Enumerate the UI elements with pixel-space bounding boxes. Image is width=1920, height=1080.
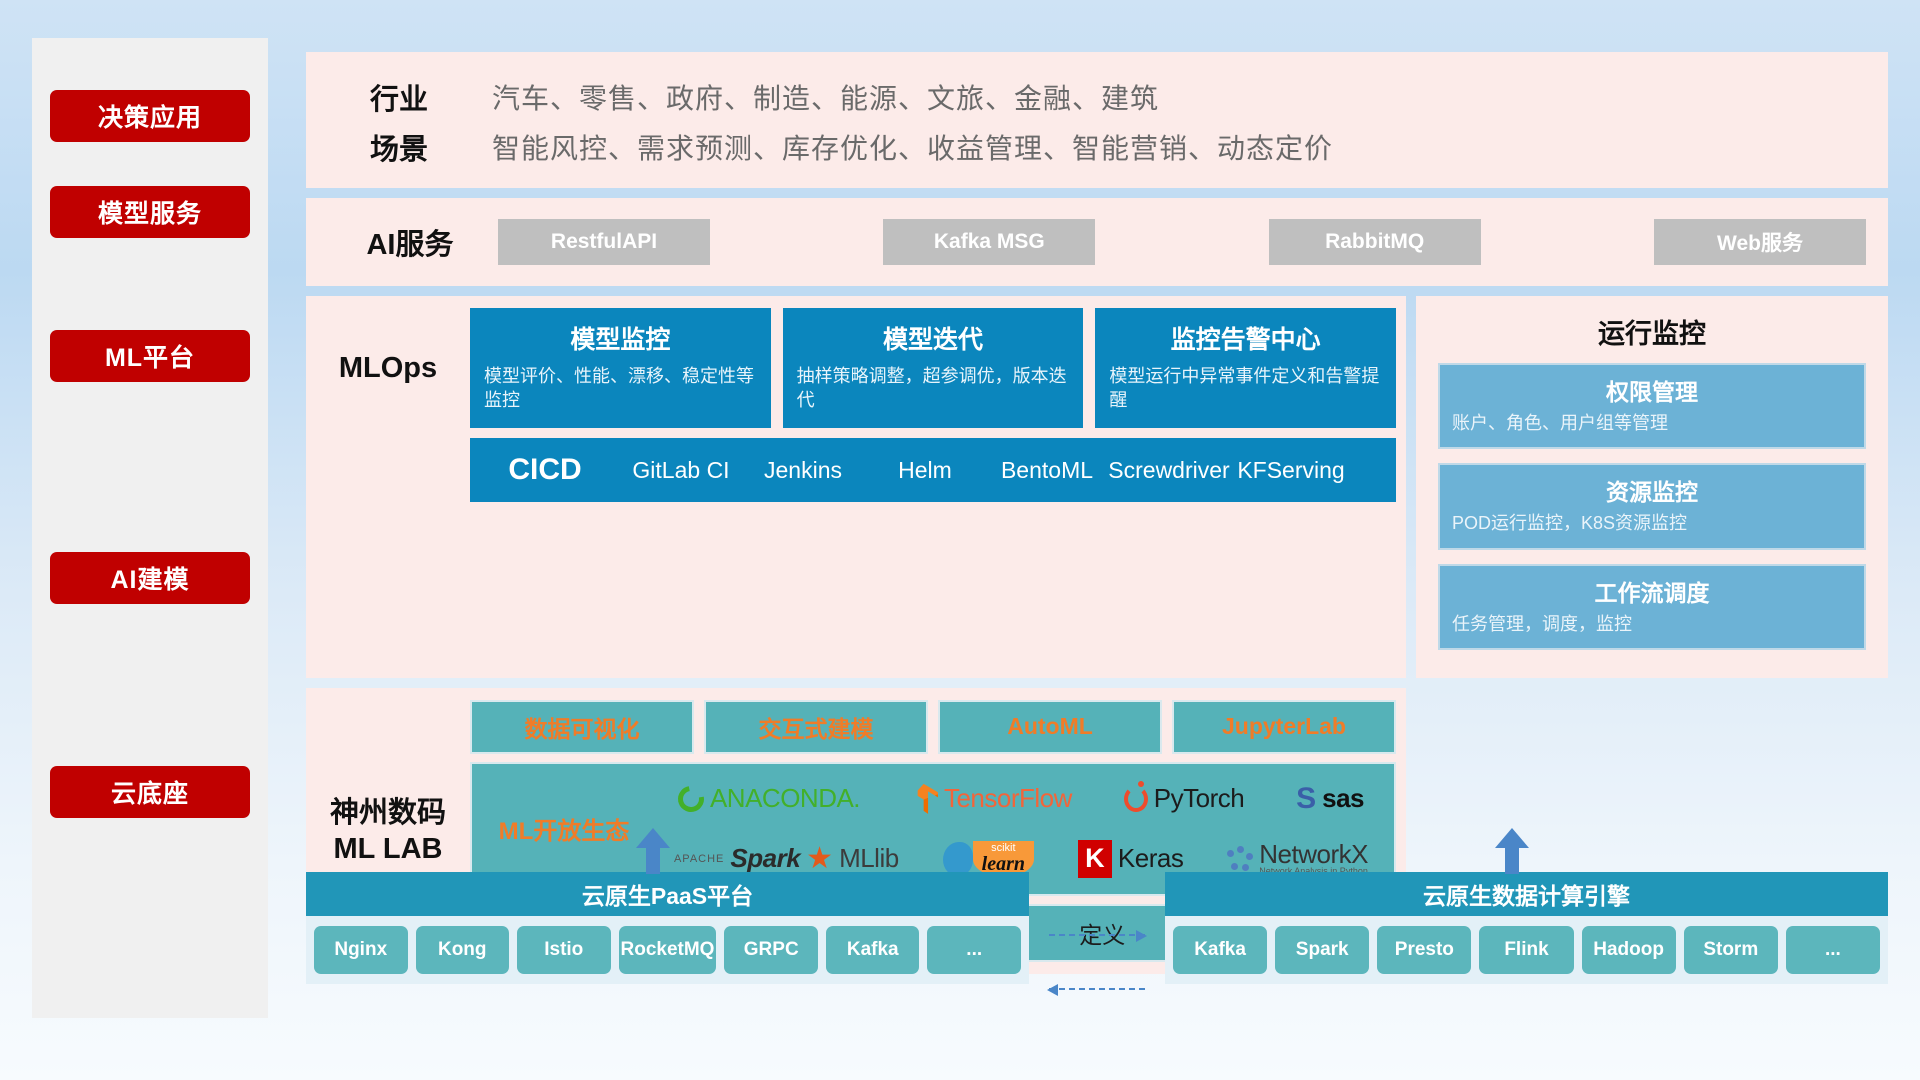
cloud-paas-column: 云原生PaaS平台 Nginx Kong Istio RocketMQ GRPC… bbox=[306, 872, 1029, 984]
cloud-base-section: 云原生PaaS平台 Nginx Kong Istio RocketMQ GRPC… bbox=[306, 872, 1888, 984]
band-mlops-wrapper: MLOps 模型监控 模型评价、性能、漂移、稳定性等监控 模型迭代 抽样策略调整… bbox=[306, 296, 1888, 678]
lab-tab-interactive-modeling[interactable]: 交互式建模 bbox=[704, 700, 928, 754]
cloud-chip-rocketmq[interactable]: RocketMQ bbox=[619, 926, 717, 974]
compute-chip-presto[interactable]: Presto bbox=[1377, 926, 1471, 974]
rail-badge-cloud-base[interactable]: 云底座 bbox=[50, 766, 250, 818]
cicd-item-jenkins[interactable]: Jenkins bbox=[742, 458, 864, 482]
cloud-chip-grpc[interactable]: GRPC bbox=[724, 926, 818, 974]
stack-layer-rail: 决策应用 模型服务 ML平台 AI建模 云底座 bbox=[32, 38, 268, 1018]
mlops-card-desc: 抽样策略调整，超参调优，版本迭代 bbox=[797, 364, 1070, 413]
lab-tab-jupyterlab[interactable]: JupyterLab bbox=[1172, 700, 1396, 754]
cloud-paas-title: 云原生PaaS平台 bbox=[306, 872, 1029, 916]
panel-runtime-monitoring: 运行监控 权限管理 账户、角色、用户组等管理 资源监控 POD运行监控，K8S资… bbox=[1416, 296, 1888, 678]
networkx-wordmark: NetworkX bbox=[1259, 841, 1368, 867]
cicd-item-gitlab-ci[interactable]: GitLab CI bbox=[620, 458, 742, 482]
industry-key: 行业 bbox=[306, 76, 492, 118]
monitor-card-title: 权限管理 bbox=[1452, 373, 1852, 407]
lab-tab-list: 数据可视化 交互式建模 AutoML JupyterLab bbox=[470, 700, 1396, 754]
compute-chip-kafka[interactable]: Kafka bbox=[1173, 926, 1267, 974]
spark-apache-label: APACHE bbox=[674, 853, 724, 865]
eco-label: ML开放生态 bbox=[476, 811, 652, 846]
sas-swirl-icon: S bbox=[1296, 782, 1316, 816]
scenario-key: 场景 bbox=[306, 126, 492, 168]
sas-wordmark: sas bbox=[1322, 783, 1364, 814]
rail-badge-decision[interactable]: 决策应用 bbox=[50, 90, 250, 142]
spark-wordmark: Spark bbox=[730, 843, 800, 874]
spark-star-icon: ★ bbox=[806, 844, 833, 874]
ml-lab-label-line1: 神州数码 bbox=[330, 795, 446, 831]
scikit-blob-icon bbox=[943, 842, 973, 876]
monitor-card-resources[interactable]: 资源监控 POD运行监控，K8S资源监控 bbox=[1438, 463, 1866, 549]
cloud-chip-istio[interactable]: Istio bbox=[517, 926, 611, 974]
mlops-card-desc: 模型评价、性能、漂移、稳定性等监控 bbox=[484, 364, 757, 413]
ai-chip-web-service[interactable]: Web服务 bbox=[1654, 219, 1866, 265]
mlops-card-alert-center[interactable]: 监控告警中心 模型运行中异常事件定义和告警提醒 bbox=[1095, 308, 1396, 428]
compute-chip-hadoop[interactable]: Hadoop bbox=[1582, 926, 1676, 974]
anaconda-wordmark: ANACONDA. bbox=[710, 783, 860, 814]
compute-chip-storm[interactable]: Storm bbox=[1684, 926, 1778, 974]
cloud-chip-kafka[interactable]: Kafka bbox=[826, 926, 920, 974]
industry-value: 汽车、零售、政府、制造、能源、文旅、金融、建筑 bbox=[492, 77, 1159, 117]
panel-title: 运行监控 bbox=[1438, 312, 1866, 351]
mlops-card-title: 监控告警中心 bbox=[1109, 320, 1382, 356]
eco-logo-grid: ANACONDA. TensorFlow PyTorch bbox=[652, 770, 1390, 888]
monitor-card-permissions[interactable]: 权限管理 账户、角色、用户组等管理 bbox=[1438, 363, 1866, 449]
arrow-right-dashed-icon bbox=[1049, 934, 1145, 936]
compute-chip-spark[interactable]: Spark bbox=[1275, 926, 1369, 974]
eco-logo-row-1: ANACONDA. TensorFlow PyTorch bbox=[652, 770, 1390, 828]
pytorch-logo: PyTorch bbox=[1124, 783, 1244, 814]
spark-mllib-logo: APACHE Spark ★ MLlib bbox=[674, 843, 899, 874]
cloud-chip-nginx[interactable]: Nginx bbox=[314, 926, 408, 974]
scenario-line: 场景 智能风控、需求预测、库存优化、收益管理、智能营销、动态定价 bbox=[306, 126, 1888, 168]
cloud-compute-chip-list: Kafka Spark Presto Flink Hadoop Storm ..… bbox=[1165, 916, 1888, 984]
monitor-card-desc: 账户、角色、用户组等管理 bbox=[1452, 411, 1852, 435]
monitor-card-title: 资源监控 bbox=[1452, 473, 1852, 507]
cicd-title: CICD bbox=[470, 453, 620, 487]
scenario-value: 智能风控、需求预测、库存优化、收益管理、智能营销、动态定价 bbox=[492, 127, 1333, 167]
sas-logo: S sas bbox=[1296, 782, 1364, 816]
ml-lab-label-line2: ML LAB bbox=[330, 831, 446, 867]
compute-chip-flink[interactable]: Flink bbox=[1479, 926, 1573, 974]
tensorflow-logo: TensorFlow bbox=[912, 783, 1072, 814]
cloud-compute-column: 云原生数据计算引擎 Kafka Spark Presto Flink Hadoo… bbox=[1165, 872, 1888, 984]
mlops-card-model-iteration[interactable]: 模型迭代 抽样策略调整，超参调优，版本迭代 bbox=[783, 308, 1084, 428]
cicd-item-screwdriver[interactable]: Screwdriver bbox=[1108, 458, 1230, 482]
cicd-item-kfserving[interactable]: KFServing bbox=[1230, 458, 1352, 482]
mlops-card-list: 模型监控 模型评价、性能、漂移、稳定性等监控 模型迭代 抽样策略调整，超参调优，… bbox=[470, 308, 1396, 428]
anaconda-logo: ANACONDA. bbox=[678, 783, 860, 814]
band-ai-service: AI服务 RestfulAPI Kafka MSG RabbitMQ Web服务 bbox=[306, 198, 1888, 286]
cicd-bar: CICD GitLab CI Jenkins Helm BentoML Scre… bbox=[470, 438, 1396, 502]
lab-tab-data-visualization[interactable]: 数据可视化 bbox=[470, 700, 694, 754]
cloud-compute-title: 云原生数据计算引擎 bbox=[1165, 872, 1888, 916]
mlops-card-title: 模型迭代 bbox=[797, 320, 1070, 356]
anaconda-ring-icon bbox=[673, 781, 709, 817]
mlops-card-model-monitoring[interactable]: 模型监控 模型评价、性能、漂移、稳定性等监控 bbox=[470, 308, 771, 428]
tensorflow-wordmark: TensorFlow bbox=[944, 783, 1072, 814]
rail-badge-ai-modeling[interactable]: AI建模 bbox=[50, 552, 250, 604]
learn-wordmark: learn bbox=[982, 854, 1025, 874]
mlops-card-title: 模型监控 bbox=[484, 320, 757, 356]
cicd-item-helm[interactable]: Helm bbox=[864, 458, 986, 482]
mlops-label: MLOps bbox=[306, 308, 470, 428]
cloud-chip-more[interactable]: ... bbox=[927, 926, 1021, 974]
ai-chip-kafka-msg[interactable]: Kafka MSG bbox=[883, 219, 1095, 265]
arrow-left-dashed-icon bbox=[1049, 988, 1145, 990]
keras-wordmark: Keras bbox=[1118, 843, 1183, 874]
lab-tab-automl[interactable]: AutoML bbox=[938, 700, 1162, 754]
cicd-item-bentoml[interactable]: BentoML bbox=[986, 458, 1108, 482]
compute-chip-more[interactable]: ... bbox=[1786, 926, 1880, 974]
ai-chip-rabbitmq[interactable]: RabbitMQ bbox=[1269, 219, 1481, 265]
cloud-chip-kong[interactable]: Kong bbox=[416, 926, 510, 974]
band-mlops: MLOps 模型监控 模型评价、性能、漂移、稳定性等监控 模型迭代 抽样策略调整… bbox=[306, 296, 1406, 678]
pytorch-wordmark: PyTorch bbox=[1154, 783, 1244, 814]
mlops-row: MLOps 模型监控 模型评价、性能、漂移、稳定性等监控 模型迭代 抽样策略调整… bbox=[306, 308, 1396, 428]
monitor-card-workflow[interactable]: 工作流调度 任务管理，调度，监控 bbox=[1438, 564, 1866, 650]
monitor-card-desc: POD运行监控，K8S资源监控 bbox=[1452, 511, 1852, 535]
tensorflow-mark-icon bbox=[912, 784, 938, 814]
cloud-link-arrows bbox=[1029, 872, 1165, 984]
cloud-paas-chip-list: Nginx Kong Istio RocketMQ GRPC Kafka ... bbox=[306, 916, 1029, 984]
ai-chip-restfulapi[interactable]: RestfulAPI bbox=[498, 219, 710, 265]
monitor-card-title: 工作流调度 bbox=[1452, 574, 1852, 608]
monitor-card-desc: 任务管理，调度，监控 bbox=[1452, 612, 1852, 636]
rail-badge-ml-platform[interactable]: ML平台 bbox=[50, 330, 250, 382]
band-industry-scenario: 行业 汽车、零售、政府、制造、能源、文旅、金融、建筑 场景 智能风控、需求预测、… bbox=[306, 52, 1888, 188]
mlops-card-desc: 模型运行中异常事件定义和告警提醒 bbox=[1109, 364, 1382, 413]
arrow-up-compute-icon bbox=[1495, 828, 1529, 872]
arrow-up-paas-icon bbox=[636, 828, 670, 872]
architecture-main: 行业 汽车、零售、政府、制造、能源、文旅、金融、建筑 场景 智能风控、需求预测、… bbox=[306, 52, 1888, 974]
rail-badge-model-serving[interactable]: 模型服务 bbox=[50, 186, 250, 238]
ai-service-chip-list: RestfulAPI Kafka MSG RabbitMQ Web服务 bbox=[492, 219, 1866, 265]
pytorch-flame-icon bbox=[1124, 786, 1148, 812]
networkx-graph-icon bbox=[1227, 846, 1253, 872]
industry-line: 行业 汽车、零售、政府、制造、能源、文旅、金融、建筑 bbox=[306, 76, 1888, 118]
mllib-wordmark: MLlib bbox=[839, 843, 899, 874]
ai-service-label: AI服务 bbox=[328, 221, 492, 263]
